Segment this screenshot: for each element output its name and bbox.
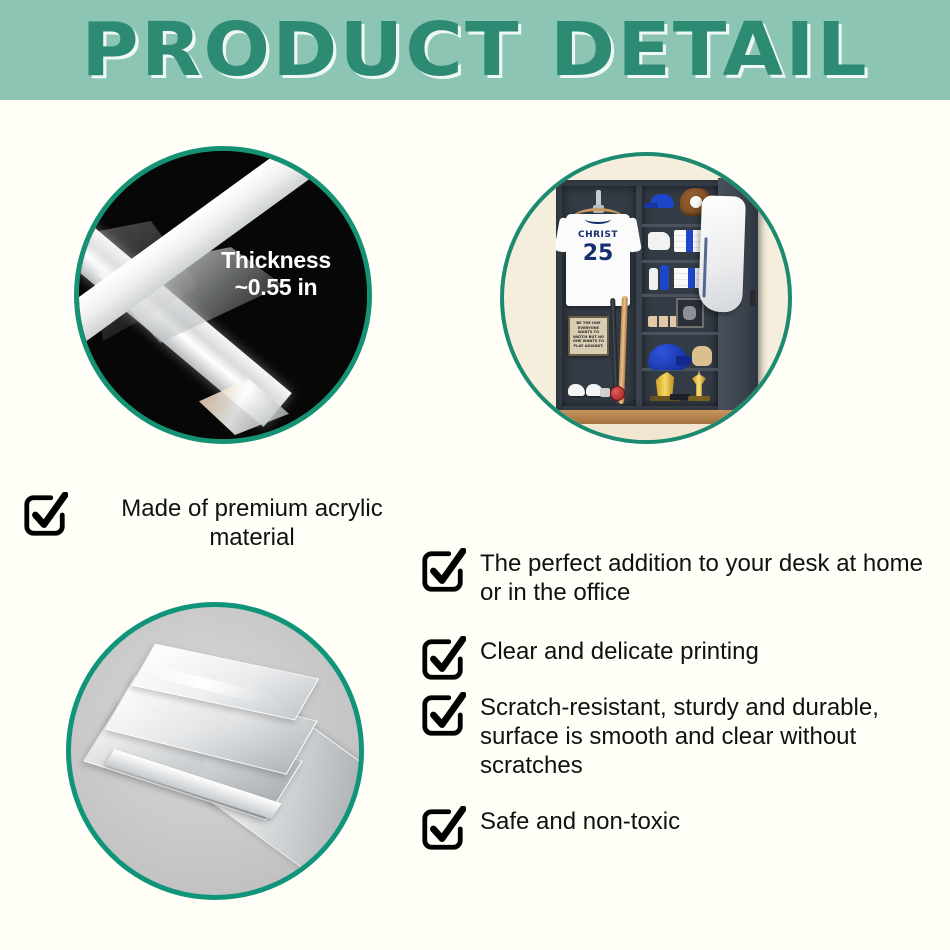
trophy-base-right [688,396,710,401]
red-disc [610,386,625,401]
white-bottle [649,268,658,290]
fielding-glove [692,346,712,366]
product-detail-page: PRODUCT DETAIL Thickness ~0.55 in [0,0,950,950]
jersey-number: 25 [566,242,630,266]
feature-text-printing: Clear and delicate printing [480,636,759,666]
page-title: PRODUCT DETAIL [0,4,950,96]
jersey-name: CHRIST [566,230,630,240]
feature-text-scratch-resistant: Scratch-resistant, sturdy and durable, s… [480,692,940,780]
feature-item-printing: Clear and delicate printing [420,636,940,682]
framed-photo [676,298,704,328]
blue-bottle [660,265,669,290]
feature-item-desk: The perfect addition to your desk at hom… [420,548,940,607]
cleat-left [568,384,585,396]
motivational-sign: BE THE ONE EVERYONE WANTS TO WATCH BUT N… [568,316,609,356]
baseball [690,196,702,208]
checkbox-checked-icon [22,492,68,538]
hanging-white-jersey [698,195,746,312]
door-handle [750,290,755,306]
feature-item-safe: Safe and non-toxic [420,806,940,852]
jersey-hook-icon [596,190,601,208]
locker-scene: CHRIST 25 BE THE ONE EVERYONE WANTS TO W… [504,156,788,440]
baseball-jersey: CHRIST 25 [566,214,630,306]
jersey-collar [585,214,611,224]
thickness-photo-circle: Thickness ~0.55 in [74,146,372,444]
checkbox-checked-icon [420,636,466,682]
shelf-4 [642,332,718,335]
checkbox-checked-icon [420,692,466,738]
thickness-label-line2: ~0.55 in [235,274,318,300]
header-band: PRODUCT DETAIL [0,0,950,100]
checkbox-checked-icon [420,806,466,852]
locker-wooden-base [550,410,736,424]
feature-text-acrylic: Made of premium acrylic material [82,492,422,552]
feature-text-desk: The perfect addition to your desk at hom… [480,548,940,607]
locker-photo-circle: CHRIST 25 BE THE ONE EVERYONE WANTS TO W… [500,152,792,444]
feature-item-scratch-resistant: Scratch-resistant, sturdy and durable, s… [420,692,940,780]
checkbox-checked-icon [420,548,466,594]
feature-item-acrylic: Made of premium acrylic material [22,492,442,552]
tape-stack [600,388,610,397]
blue-cap [650,194,674,208]
feature-text-safe: Safe and non-toxic [480,806,680,836]
award-plaque [670,394,690,400]
batting-gloves [648,232,670,250]
thickness-label-line1: Thickness [221,247,331,273]
motivational-sign-text: BE THE ONE EVERYONE WANTS TO WATCH BUT N… [571,319,606,349]
acrylic-sheets-photo-circle [66,602,364,900]
thickness-label: Thickness ~0.55 in [201,247,351,301]
